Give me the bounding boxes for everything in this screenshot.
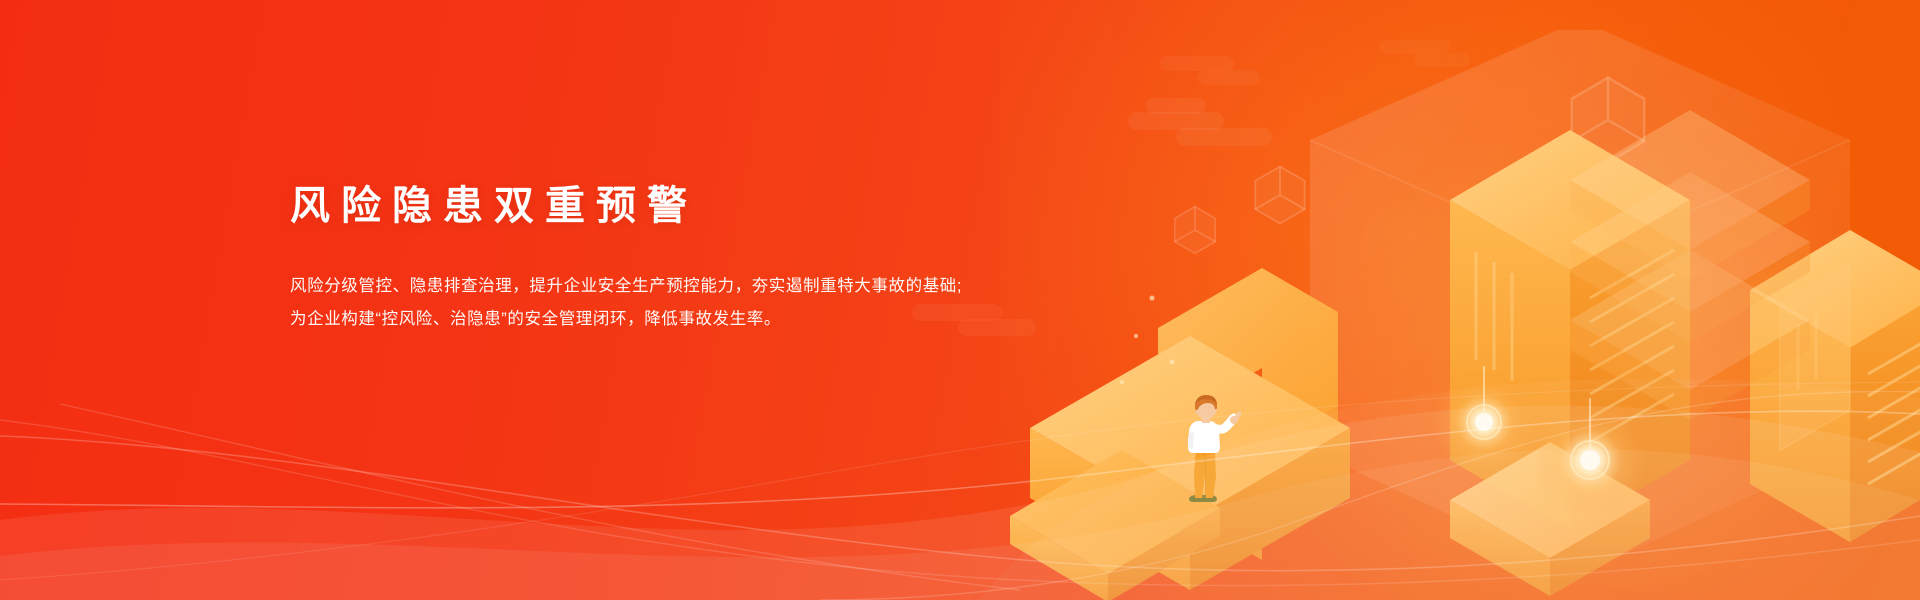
translucent-panel xyxy=(1780,262,1850,450)
isometric-pillar xyxy=(1450,442,1650,596)
glow-point-icon xyxy=(1532,398,1648,518)
background-glow-primary xyxy=(1000,0,1900,600)
isometric-server-rack xyxy=(1750,230,1920,542)
stacked-data-slabs xyxy=(1570,110,1810,420)
isometric-server-rack xyxy=(1450,130,1690,530)
background-glow-secondary xyxy=(1250,120,1920,600)
banner-subtitle-line-2: 为企业构建“控风险、治隐患”的安全管理闭环，降低事故发生率。 xyxy=(290,303,1010,336)
cloud-shape-icon xyxy=(1380,40,1450,54)
banner-subtitle-line-1: 风险分级管控、隐患排查治理，提升企业安全生产预控能力，夯实遏制重特大事故的基础; xyxy=(290,270,1010,303)
promo-banner: 风险隐患双重预警 风险分级管控、隐患排查治理，提升企业安全生产预控能力，夯实遏制… xyxy=(0,0,1920,600)
hexagon-cube-outline-icon xyxy=(1175,207,1216,254)
glow-point-icon xyxy=(1432,366,1536,474)
cloud-shape-icon xyxy=(1128,112,1224,130)
hexagon-cube-outline-icon xyxy=(1572,78,1645,163)
isometric-server-illustration xyxy=(890,30,1920,600)
cloud-shape-icon xyxy=(1160,56,1234,71)
sparkle-dots xyxy=(1120,296,1175,385)
banner-title: 风险隐患双重预警 xyxy=(290,178,1010,234)
banner-copy: 风险隐患双重预警 风险分级管控、隐患排查治理，提升企业安全生产预控能力，夯实遏制… xyxy=(290,178,1010,336)
isometric-box xyxy=(1030,336,1350,590)
hexagon-cube-outline-icon xyxy=(1255,167,1304,224)
isometric-chevron-block xyxy=(1158,268,1338,560)
banner-subtitle: 风险分级管控、隐患排查治理，提升企业安全生产预控能力，夯实遏制重特大事故的基础;… xyxy=(290,270,1010,336)
ghost-hexagon-frame xyxy=(1310,30,1850,575)
isometric-small-box xyxy=(1010,450,1220,600)
person-pointing-icon xyxy=(1183,394,1253,504)
